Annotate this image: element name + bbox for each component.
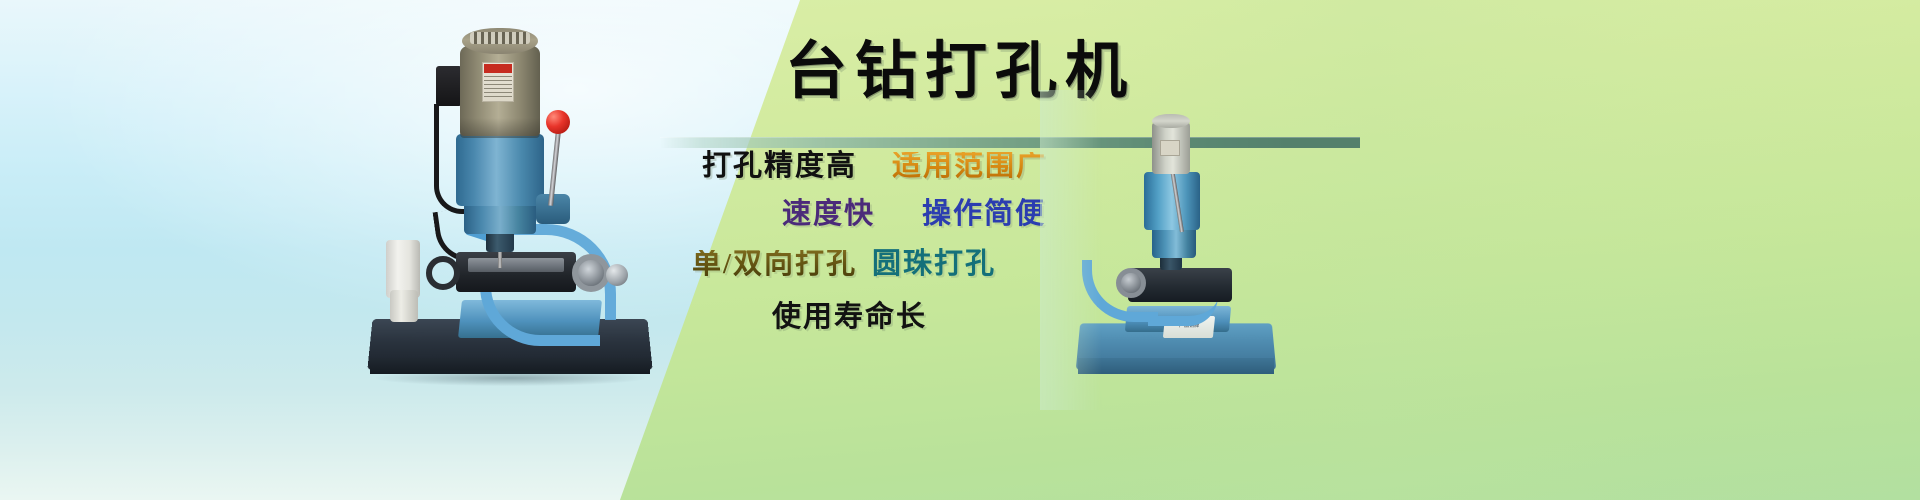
right-handwheel	[1116, 268, 1146, 298]
handwheel-right	[572, 254, 610, 292]
adjust-knob	[606, 264, 628, 286]
right-motor-cap	[1152, 114, 1190, 128]
feature-bead-drilling: 圆珠打孔	[872, 250, 996, 279]
gearbox-head	[456, 134, 544, 206]
motor-body-shadow	[460, 118, 540, 138]
junction-box	[436, 66, 462, 106]
drill-bit	[498, 250, 502, 268]
product-banner: 台钻打孔机 打孔精度高 适用范围广 速度快 操作简便 单/双向打孔 圆珠打孔 使…	[0, 0, 1920, 500]
motor-nameplate-stripe	[484, 64, 512, 73]
machine-base-shadow	[376, 370, 644, 386]
feature-wide-range: 适用范围广	[892, 152, 1047, 181]
feature-single-dual-drilling: 单/双向打孔	[692, 250, 857, 279]
feature-fast-speed: 速度快	[782, 200, 875, 229]
right-machine-base-front	[1078, 358, 1274, 374]
right-product-photo: 产品铭牌	[1060, 110, 1290, 410]
feature-long-life: 使用寿命长	[772, 303, 927, 332]
vice-jaw	[468, 258, 564, 272]
feature-precision: 打孔精度高	[702, 152, 857, 181]
feature-easy-operation: 操作简便	[922, 200, 1046, 229]
lever-red-ball	[546, 110, 570, 134]
title-area: 台钻打孔机	[640, 40, 1280, 105]
right-motor-nameplate	[1160, 140, 1180, 156]
motor-nameplate-text	[484, 76, 512, 100]
banner-title: 台钻打孔机	[640, 40, 1280, 105]
left-product-photo	[360, 18, 660, 388]
handwheel-left	[426, 256, 460, 290]
control-box-lower	[390, 290, 418, 322]
motor-vents	[470, 32, 530, 44]
